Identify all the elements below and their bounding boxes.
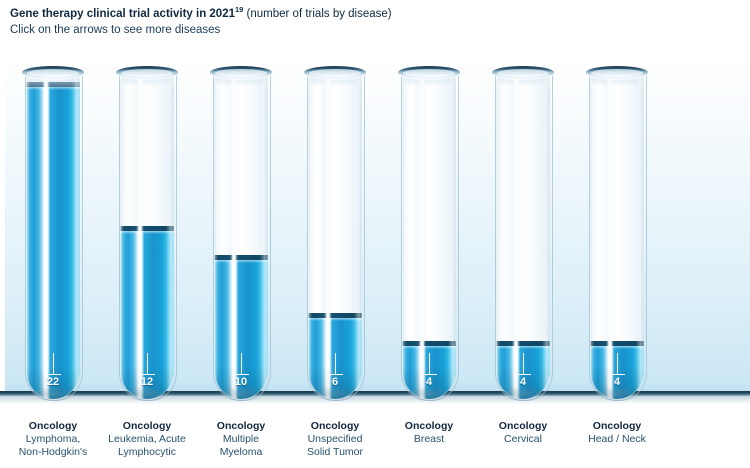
tube-glass-body (590, 73, 644, 399)
label-disease-line1: Cervical (469, 433, 577, 446)
chart-stage: Gene therapy clinical trial activity in … (0, 0, 750, 468)
test-tube-bar[interactable]: 4 (586, 66, 648, 406)
tube-glass-body (308, 73, 362, 399)
test-tube-bar[interactable]: 22 (22, 66, 84, 406)
tube-rim (492, 66, 554, 79)
test-tube-bar[interactable]: 4 (398, 66, 460, 406)
tube-rim-inner (497, 69, 549, 77)
label-category: Oncology (93, 420, 201, 433)
tube-rim (22, 66, 84, 79)
category-label: OncologyBreast (375, 420, 483, 446)
tube-liquid-fill (214, 255, 268, 399)
page-subtitle: Click on the arrows to see more diseases (10, 23, 740, 38)
tube-glass-body (120, 73, 174, 399)
label-category: Oncology (281, 420, 389, 433)
label-disease-line2: Solid Tumor (281, 446, 389, 459)
test-tube-bar[interactable]: 4 (492, 66, 554, 406)
label-disease-line1: Lymphoma, (0, 433, 107, 446)
category-label: OncologyMultipleMyeloma (187, 420, 295, 459)
liquid-surface-glow (214, 260, 268, 263)
test-tube-bar[interactable]: 12 (116, 66, 178, 406)
test-tube-bar[interactable]: 10 (210, 66, 272, 406)
label-disease-line1: Multiple (187, 433, 295, 446)
label-disease-line1: Head / Neck (563, 433, 671, 446)
liquid-surface-glow (26, 87, 80, 90)
category-label: OncologyCervical (469, 420, 577, 446)
tube-rim-inner (121, 69, 173, 77)
title-subtext: (number of trials by disease) (243, 8, 391, 20)
tube-rim-inner (27, 69, 79, 77)
category-label: OncologyUnspecifiedSolid Tumor (281, 420, 389, 459)
tube-rim (210, 66, 272, 79)
liquid-surface-glow (120, 231, 174, 234)
tube-rim-inner (591, 69, 643, 77)
title-main: Gene therapy clinical trial activity in … (10, 8, 235, 20)
tube-glass-body (496, 73, 550, 399)
tube-drop-shadow (310, 386, 360, 402)
category-label: OncologyLymphoma,Non-Hodgkin's (0, 420, 107, 459)
tube-drop-shadow (592, 386, 642, 402)
label-category: Oncology (0, 420, 107, 433)
label-disease-line2: Myeloma (187, 446, 295, 459)
tube-glass-body (26, 73, 80, 399)
label-disease-line1: Leukemia, Acute (93, 433, 201, 446)
tube-drop-shadow (122, 386, 172, 402)
label-disease-line2: Non-Hodgkin's (0, 446, 107, 459)
tube-rim (304, 66, 366, 79)
tube-rim (398, 66, 460, 79)
label-category: Oncology (469, 420, 577, 433)
tube-glass-body (214, 73, 268, 399)
label-disease-line2: Lymphocytic (93, 446, 201, 459)
label-category: Oncology (375, 420, 483, 433)
tube-drop-shadow (28, 386, 78, 402)
tube-drop-shadow (404, 386, 454, 402)
tube-drop-shadow (216, 386, 266, 402)
tube-rim-inner (215, 69, 267, 77)
tube-rim (116, 66, 178, 79)
tube-rim (586, 66, 648, 79)
category-label: OncologyHead / Neck (563, 420, 671, 446)
label-category: Oncology (563, 420, 671, 433)
tube-liquid-fill (120, 226, 174, 399)
liquid-surface-glow (590, 346, 644, 349)
tube-glass-body (402, 73, 456, 399)
label-disease-line1: Breast (375, 433, 483, 446)
page-title: Gene therapy clinical trial activity in … (10, 2, 740, 22)
label-category: Oncology (187, 420, 295, 433)
liquid-surface-glow (402, 346, 456, 349)
tube-rim-inner (403, 69, 455, 77)
test-tube-bar[interactable]: 6 (304, 66, 366, 406)
label-disease-line1: Unspecified (281, 433, 389, 446)
category-label: OncologyLeukemia, AcuteLymphocytic (93, 420, 201, 459)
liquid-surface-glow (496, 346, 550, 349)
chart-header: Gene therapy clinical trial activity in … (10, 2, 740, 38)
tube-rim-inner (309, 69, 361, 77)
tube-drop-shadow (498, 386, 548, 402)
liquid-surface-glow (308, 318, 362, 321)
tube-liquid-fill (26, 82, 80, 399)
